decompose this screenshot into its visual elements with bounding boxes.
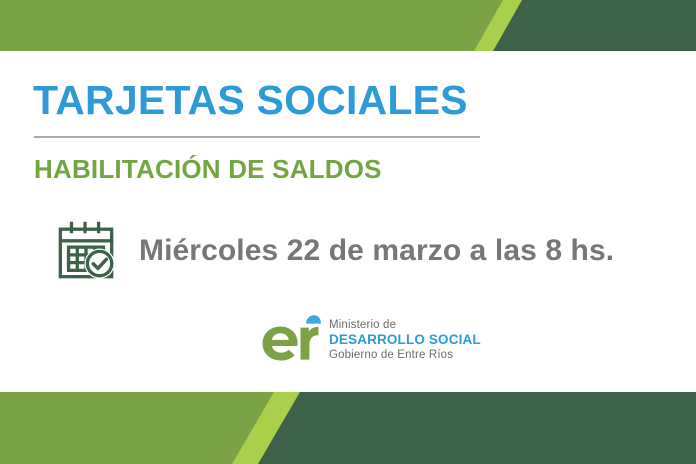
logo-text-block: Ministerio de DESARROLLO SOCIAL Gobierno… <box>329 312 481 362</box>
calendar-badge-backdrop <box>85 249 115 279</box>
logo-department-label: DESARROLLO SOCIAL <box>329 332 481 348</box>
top-banner-green-dark <box>493 0 696 51</box>
top-banner <box>0 0 696 51</box>
event-date-text: Miércoles 22 de marzo a las 8 hs. <box>139 234 614 268</box>
logo-ministry-label: Ministerio de <box>329 318 481 332</box>
bottom-banner-graphic <box>0 392 696 464</box>
logo-blue-dot <box>306 315 321 323</box>
title-divider <box>34 136 480 138</box>
page-subtitle: HABILITACIÓN DE SALDOS <box>34 155 653 184</box>
headline-block: TARJETAS SOCIALES HABILITACIÓN DE SALDOS <box>33 78 653 184</box>
poster-root: TARJETAS SOCIALES HABILITACIÓN DE SALDOS <box>0 0 696 464</box>
page-title: TARJETAS SOCIALES <box>33 78 653 122</box>
er-logo-mark-icon <box>259 311 321 363</box>
date-row: Miércoles 22 de marzo a las 8 hs. <box>55 220 614 282</box>
bottom-banner-green-dark <box>258 392 696 464</box>
logo-government-label: Gobierno de Entre Ríos <box>329 348 481 362</box>
logo-letter-e <box>263 327 298 361</box>
top-banner-graphic <box>0 0 696 51</box>
logo-letter-r <box>301 327 319 360</box>
bottom-banner <box>0 392 696 464</box>
calendar-check-icon <box>55 220 117 282</box>
ministry-logo: Ministerio de DESARROLLO SOCIAL Gobierno… <box>259 311 481 363</box>
